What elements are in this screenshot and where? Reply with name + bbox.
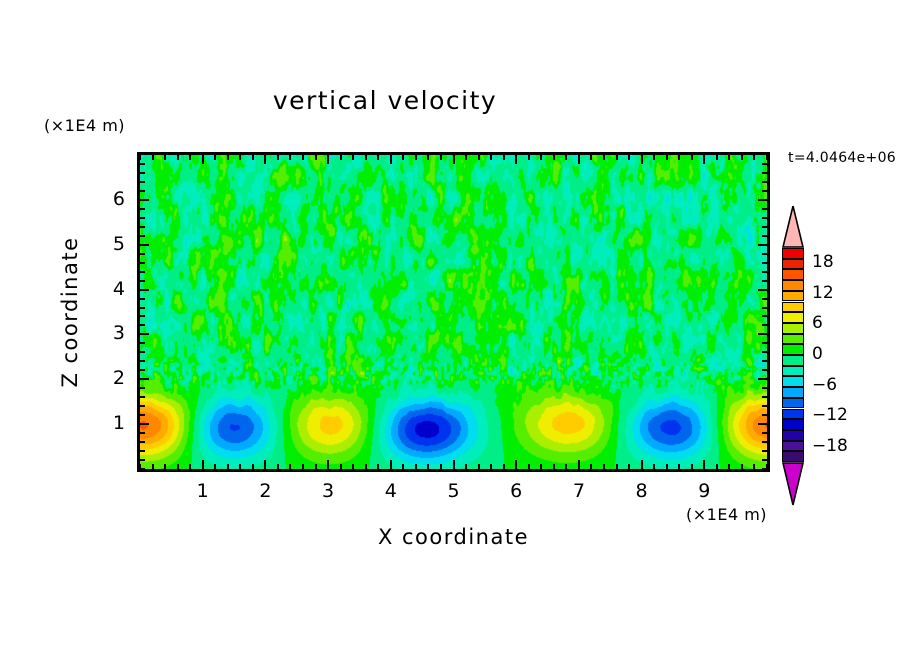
y-axis-title: Z coordinate [58,212,82,412]
colorbar-label: 18 [812,252,834,272]
contour-field [140,155,767,469]
colorbar-segment [782,387,804,398]
colorbar-label: −6 [812,375,837,395]
colorbar-label: 0 [812,344,823,364]
x-tick-label: 4 [371,480,411,502]
x-tick-label: 5 [434,480,474,502]
chart-title: vertical velocity [0,86,770,115]
colorbar-segment [782,398,804,409]
colorbar-segment [782,344,804,355]
colorbar [782,248,804,462]
colorbar-segment [782,430,804,441]
colorbar-segment [782,259,804,270]
y-tick-label: 2 [85,367,125,389]
colorbar-segment [782,376,804,387]
colorbar-segment [782,323,804,334]
x-axis-unit-label: (×1E4 m) [686,505,767,524]
colorbar-segment [782,312,804,323]
x-tick-label: 3 [308,480,348,502]
colorbar-segment [782,302,804,313]
y-tick-label: 6 [85,188,125,210]
colorbar-label: 6 [812,313,823,333]
colorbar-segment [782,441,804,452]
x-tick-label: 1 [183,480,223,502]
x-tick-label: 2 [245,480,285,502]
time-annotation: t=4.0464e+06 [788,150,896,166]
colorbar-segment [782,451,804,462]
colorbar-under-arrow [782,462,804,506]
x-tick-label: 9 [684,480,724,502]
colorbar-segment [782,280,804,291]
x-axis-title: X coordinate [137,525,770,549]
colorbar-segment [782,269,804,280]
y-axis-unit-label: (×1E4 m) [44,116,125,135]
y-tick-label: 3 [85,322,125,344]
y-tick-label: 1 [85,412,125,434]
colorbar-label: −18 [812,436,848,456]
colorbar-segment [782,355,804,366]
colorbar-over-arrow [782,206,804,248]
y-tick-label: 4 [85,278,125,300]
colorbar-segment [782,334,804,345]
colorbar-label: −12 [812,405,848,425]
colorbar-segment [782,366,804,377]
x-tick-label: 6 [496,480,536,502]
colorbar-segment [782,409,804,420]
colorbar-label: 12 [812,283,834,303]
colorbar-segment [782,248,804,259]
y-tick-label: 5 [85,233,125,255]
colorbar-segment [782,291,804,302]
x-tick-label: 7 [559,480,599,502]
colorbar-segment [782,419,804,430]
x-tick-label: 8 [622,480,662,502]
colorbar-tick-labels: 181260−6−12−18 [812,248,882,462]
contour-plot-area [137,152,770,472]
